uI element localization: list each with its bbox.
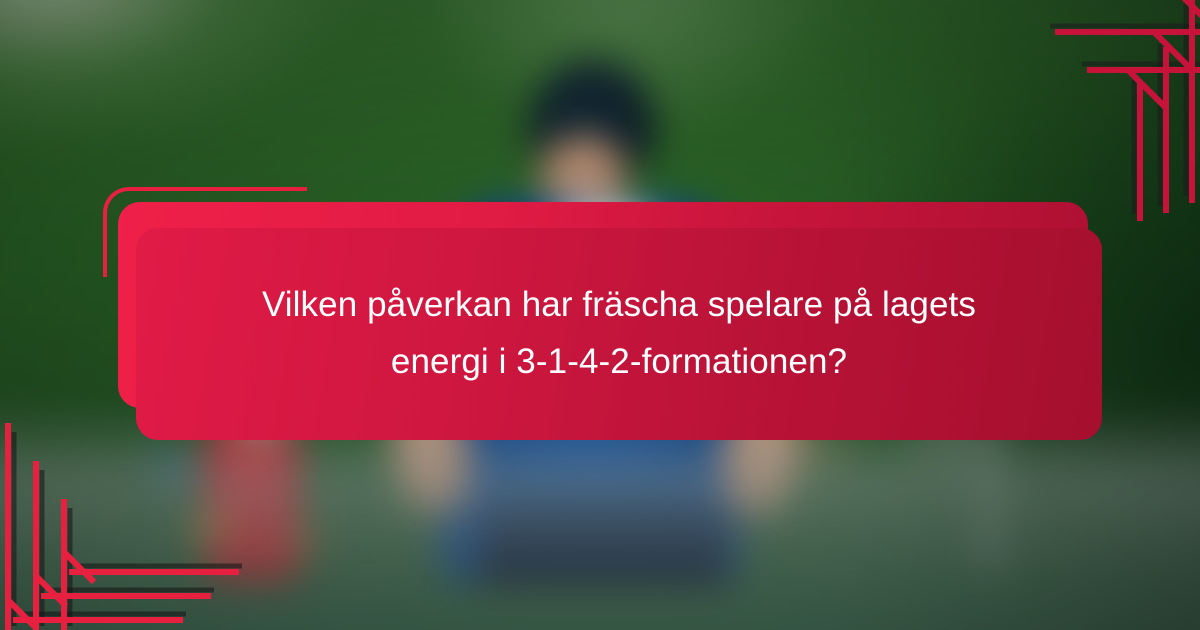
question-text: Vilken påverkan har fräscha spelare på l… — [161, 277, 1077, 390]
quiz-card-canvas: Vilken påverkan har fräscha spelare på l… — [0, 0, 1200, 630]
question-card-stack: Vilken påverkan har fräscha spelare på l… — [0, 0, 1200, 630]
question-card[interactable]: Vilken påverkan har fräscha spelare på l… — [136, 228, 1102, 440]
